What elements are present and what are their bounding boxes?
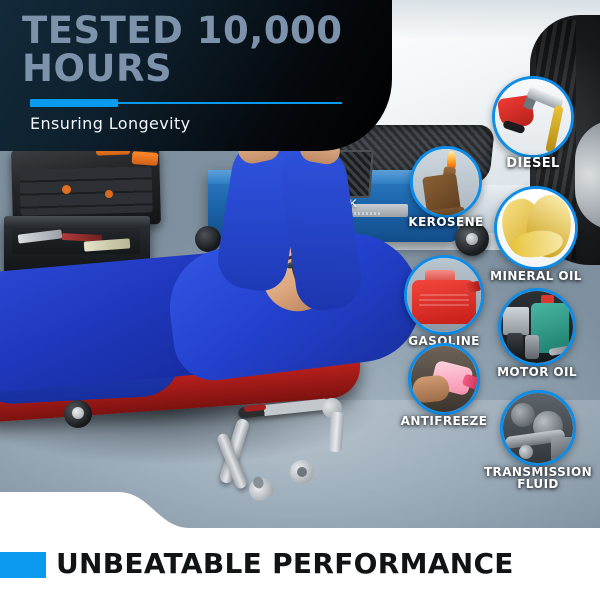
feature-mineral-oil: MINERAL OIL [494,186,578,270]
jack-wheel-left [195,226,221,252]
toolbox-latch-dot-1 [62,185,71,194]
footer-headline: UNBEATABLE PERFORMANCE [56,547,514,580]
socket-extension [329,412,345,453]
feature-antifreeze: ANTIFREEZE [408,343,480,415]
feature-label-kerosene: KEROSENE [408,216,483,228]
product-feature-image: BILTEK [0,0,600,600]
page-title: TESTED 10,000 HOURS [22,12,372,88]
creeper-wheel [64,400,92,428]
toolbox-latch-2 [132,151,159,166]
antifreeze-bottle-icon [408,343,480,415]
feature-label-mineral-oil: MINERAL OIL [490,270,582,282]
header-divider [30,99,342,107]
oil-filter-2 [525,335,539,359]
fuel-nozzle-icon [492,76,574,158]
feature-label-motor-oil: MOTOR OIL [497,366,577,378]
gas-can-icon [404,255,484,335]
feature-diesel: DIESEL [492,76,574,158]
kerosene-lamp-icon [410,146,482,218]
oil-jug-icon [498,288,576,366]
gas-can-ridges [419,294,469,308]
feature-label-antifreeze: ANTIFREEZE [401,415,488,427]
divider-thin-segment [118,102,342,104]
transmission-bolt [519,445,533,459]
toolbox-rim [4,216,150,226]
oil-filter-1 [507,333,523,357]
feature-kerosene: KEROSENE [410,146,482,218]
jack-label-plate [352,204,408,217]
footer-accent-bar [0,552,46,578]
feature-label-diesel: DIESEL [506,158,559,170]
motor-oil-panel [503,307,529,335]
transmission-block [551,437,576,463]
toolbox-latch-dot-2 [105,190,113,198]
transmission-parts-icon [500,390,576,466]
transmission-gear [511,403,535,427]
feature-motor-oil: MOTOR OIL [498,288,576,366]
feature-gasoline: GASOLINE [404,255,484,335]
header-panel: TESTED 10,000 HOURS Ensuring Longevity [0,0,392,151]
divider-thick-segment [30,99,118,107]
oil-swirl-icon [494,186,578,270]
page-subtitle: Ensuring Longevity [30,114,191,133]
feature-transmission-fluid: TRANSMISSION FLUID [500,390,576,466]
